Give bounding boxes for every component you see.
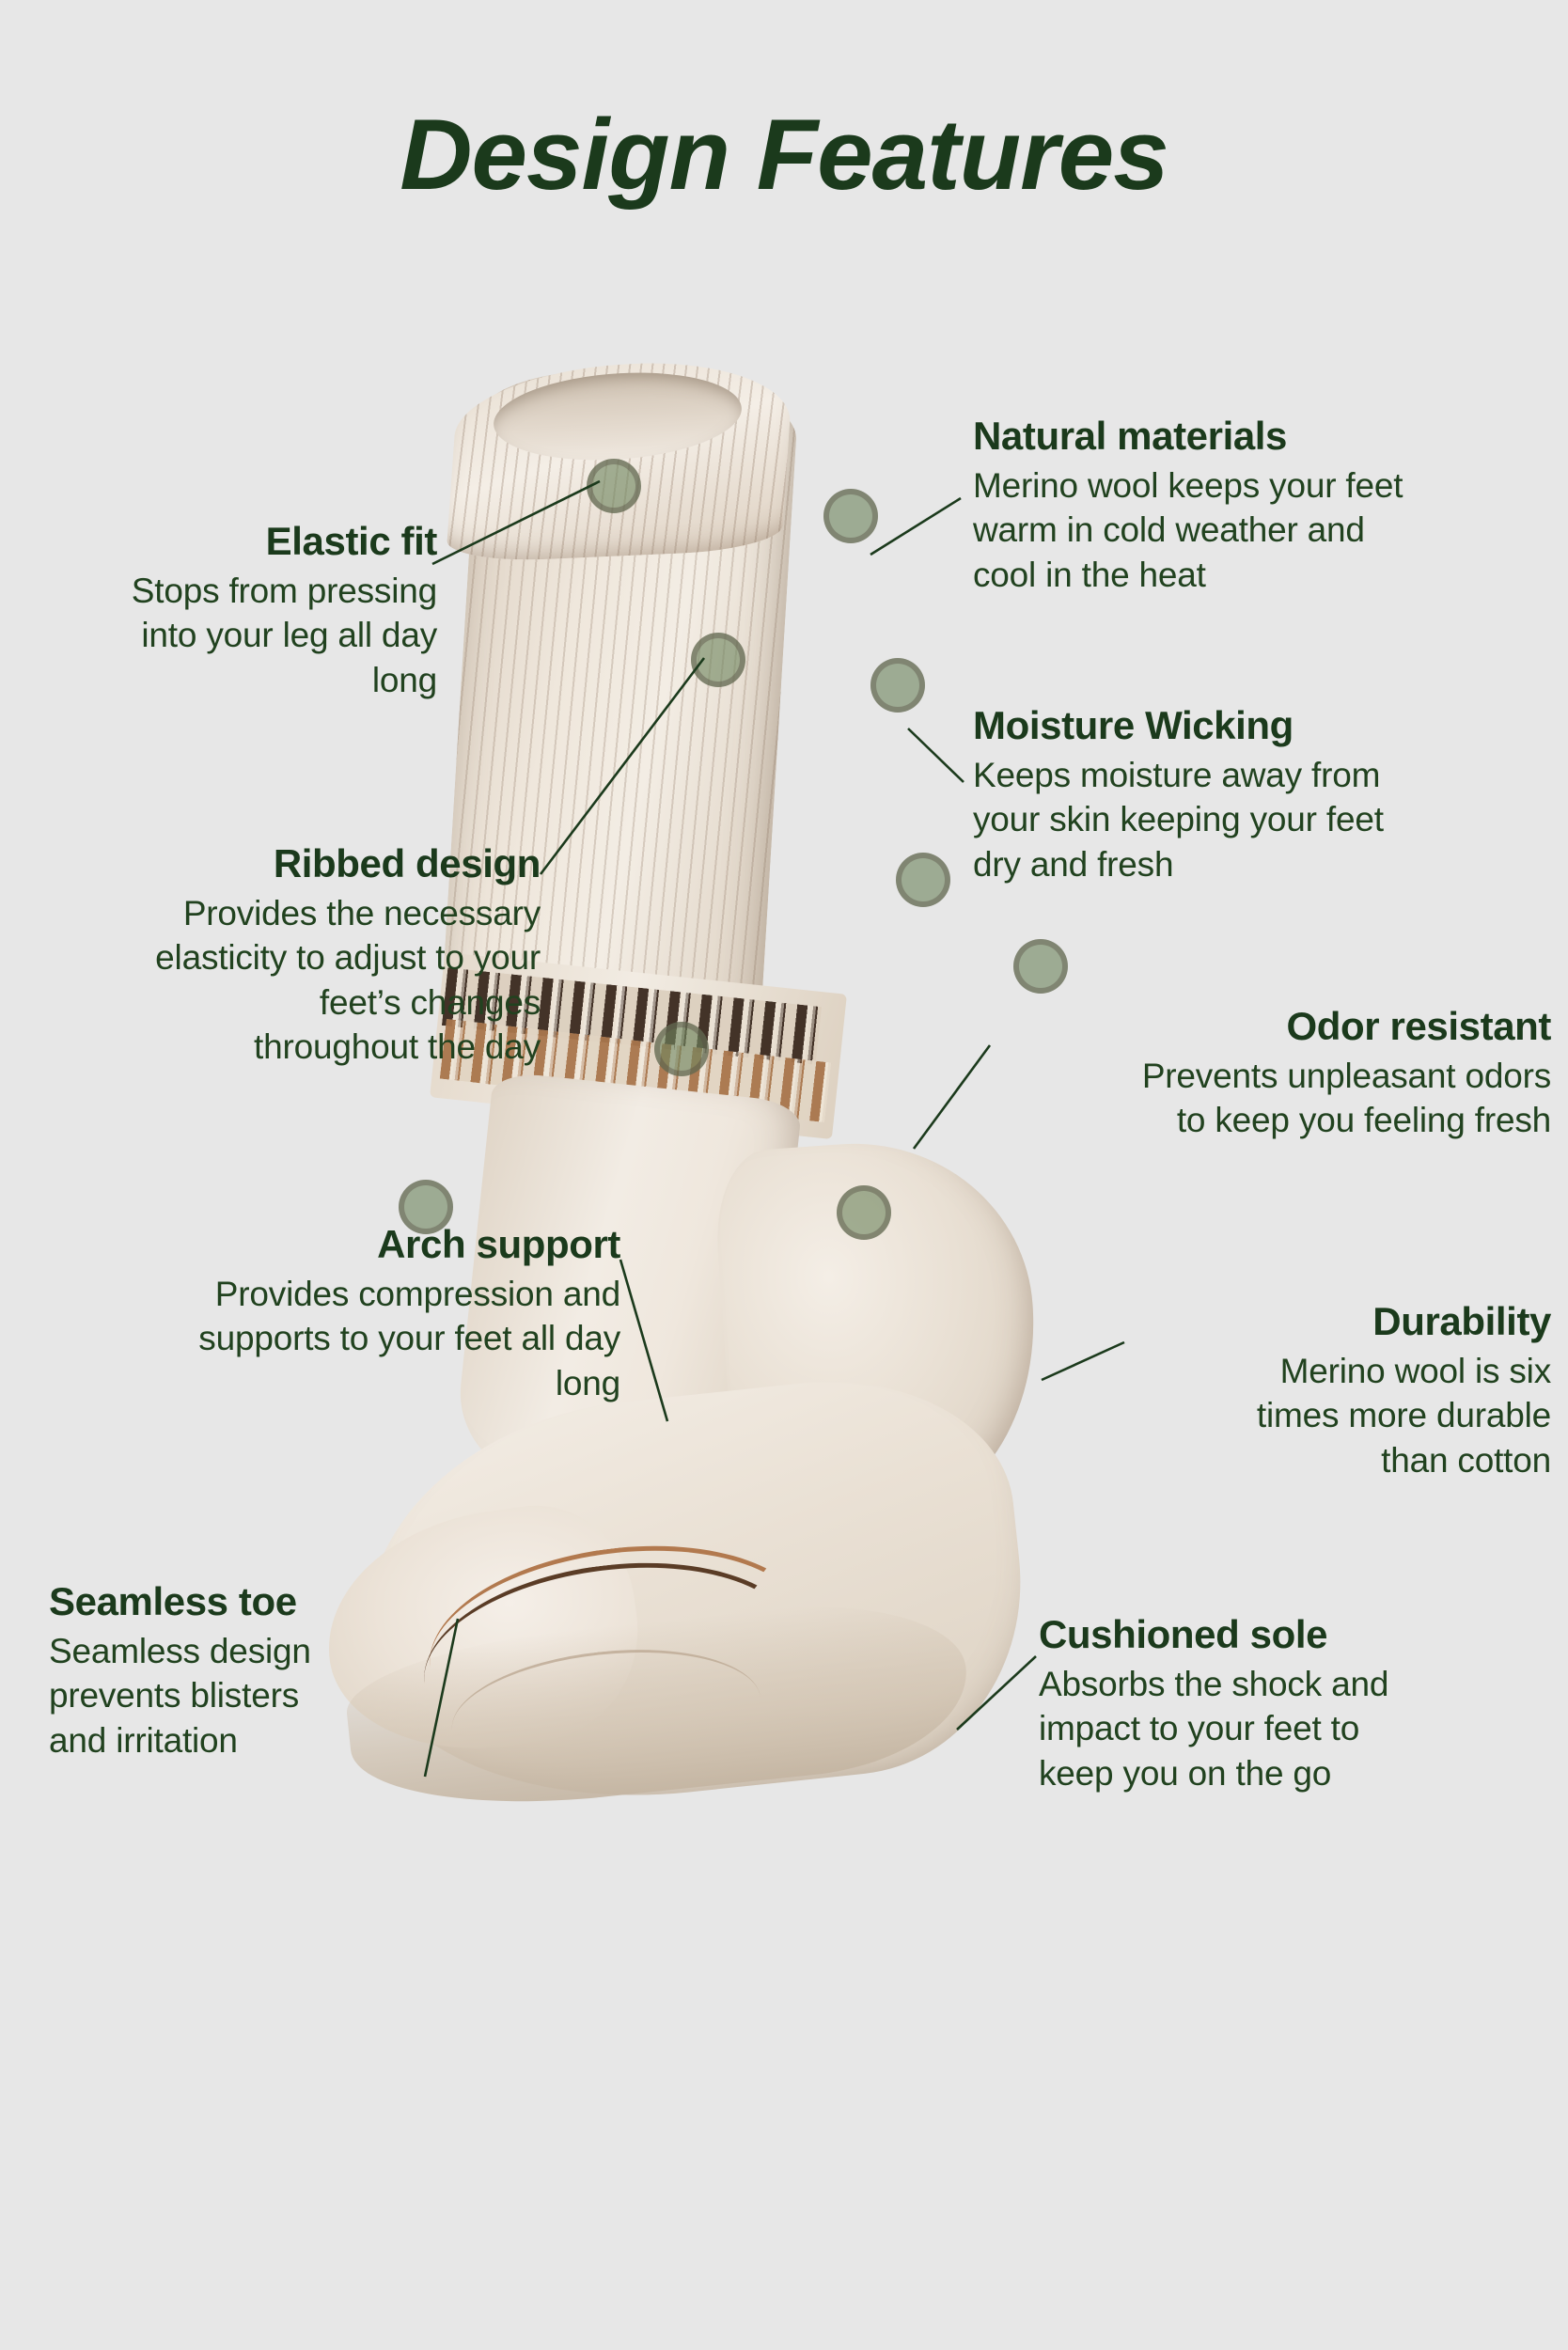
callout-ribbed-design: Ribbed design Provides the necessary ela… xyxy=(5,841,541,1069)
callout-durability: Durability Merino wool is six times more… xyxy=(1128,1299,1551,1482)
callout-arch-support: Arch support Provides compression and su… xyxy=(28,1222,620,1405)
marker-dot-durability[interactable] xyxy=(1013,939,1068,994)
callout-moisture-wicking: Moisture Wicking Keeps moisture away fro… xyxy=(973,703,1537,886)
callout-body: Provides compression and supports to you… xyxy=(28,1272,620,1405)
marker-dot-elastic-fit[interactable] xyxy=(587,459,641,513)
marker-dot-ribbed-design[interactable] xyxy=(691,633,745,687)
callout-body: Prevents unpleasant odors to keep you fe… xyxy=(959,1054,1551,1143)
callout-body: Provides the necessary elasticity to adj… xyxy=(5,891,541,1069)
callout-body: Stops from pressing into your leg all da… xyxy=(9,569,437,702)
callout-body: Seamless design prevents blisters and ir… xyxy=(49,1629,453,1762)
callout-heading: Ribbed design xyxy=(5,841,541,885)
callout-heading: Seamless toe xyxy=(49,1579,453,1623)
callout-heading: Cushioned sole xyxy=(1039,1612,1509,1656)
callout-odor-resistant: Odor resistant Prevents unpleasant odors… xyxy=(959,1004,1551,1143)
callout-body: Merino wool is six times more durable th… xyxy=(1128,1349,1551,1482)
callout-heading: Arch support xyxy=(28,1222,620,1266)
marker-dot-arch-support[interactable] xyxy=(654,1022,709,1076)
callout-elastic-fit: Elastic fit Stops from pressing into you… xyxy=(9,519,437,702)
callout-natural-materials: Natural materials Merino wool keeps your… xyxy=(973,414,1537,597)
marker-dot-cushioned-sole[interactable] xyxy=(837,1185,891,1240)
callout-cushioned-sole: Cushioned sole Absorbs the shock and imp… xyxy=(1039,1612,1509,1795)
callout-heading: Odor resistant xyxy=(959,1004,1551,1048)
marker-dot-odor-resistant[interactable] xyxy=(896,853,950,907)
callout-heading: Natural materials xyxy=(973,414,1537,458)
marker-dot-moisture-wicking[interactable] xyxy=(870,658,925,713)
callout-heading: Elastic fit xyxy=(9,519,437,563)
marker-dot-natural-materials[interactable] xyxy=(823,489,878,543)
callout-heading: Durability xyxy=(1128,1299,1551,1343)
callout-body: Absorbs the shock and impact to your fee… xyxy=(1039,1662,1509,1795)
callout-body: Keeps moisture away from your skin keepi… xyxy=(973,753,1537,886)
callout-seamless-toe: Seamless toe Seamless design prevents bl… xyxy=(49,1579,453,1762)
infographic-page: Design Features xyxy=(0,0,1568,2350)
callout-heading: Moisture Wicking xyxy=(973,703,1537,747)
page-title: Design Features xyxy=(0,102,1568,207)
callout-body: Merino wool keeps your feet warm in cold… xyxy=(973,463,1537,597)
